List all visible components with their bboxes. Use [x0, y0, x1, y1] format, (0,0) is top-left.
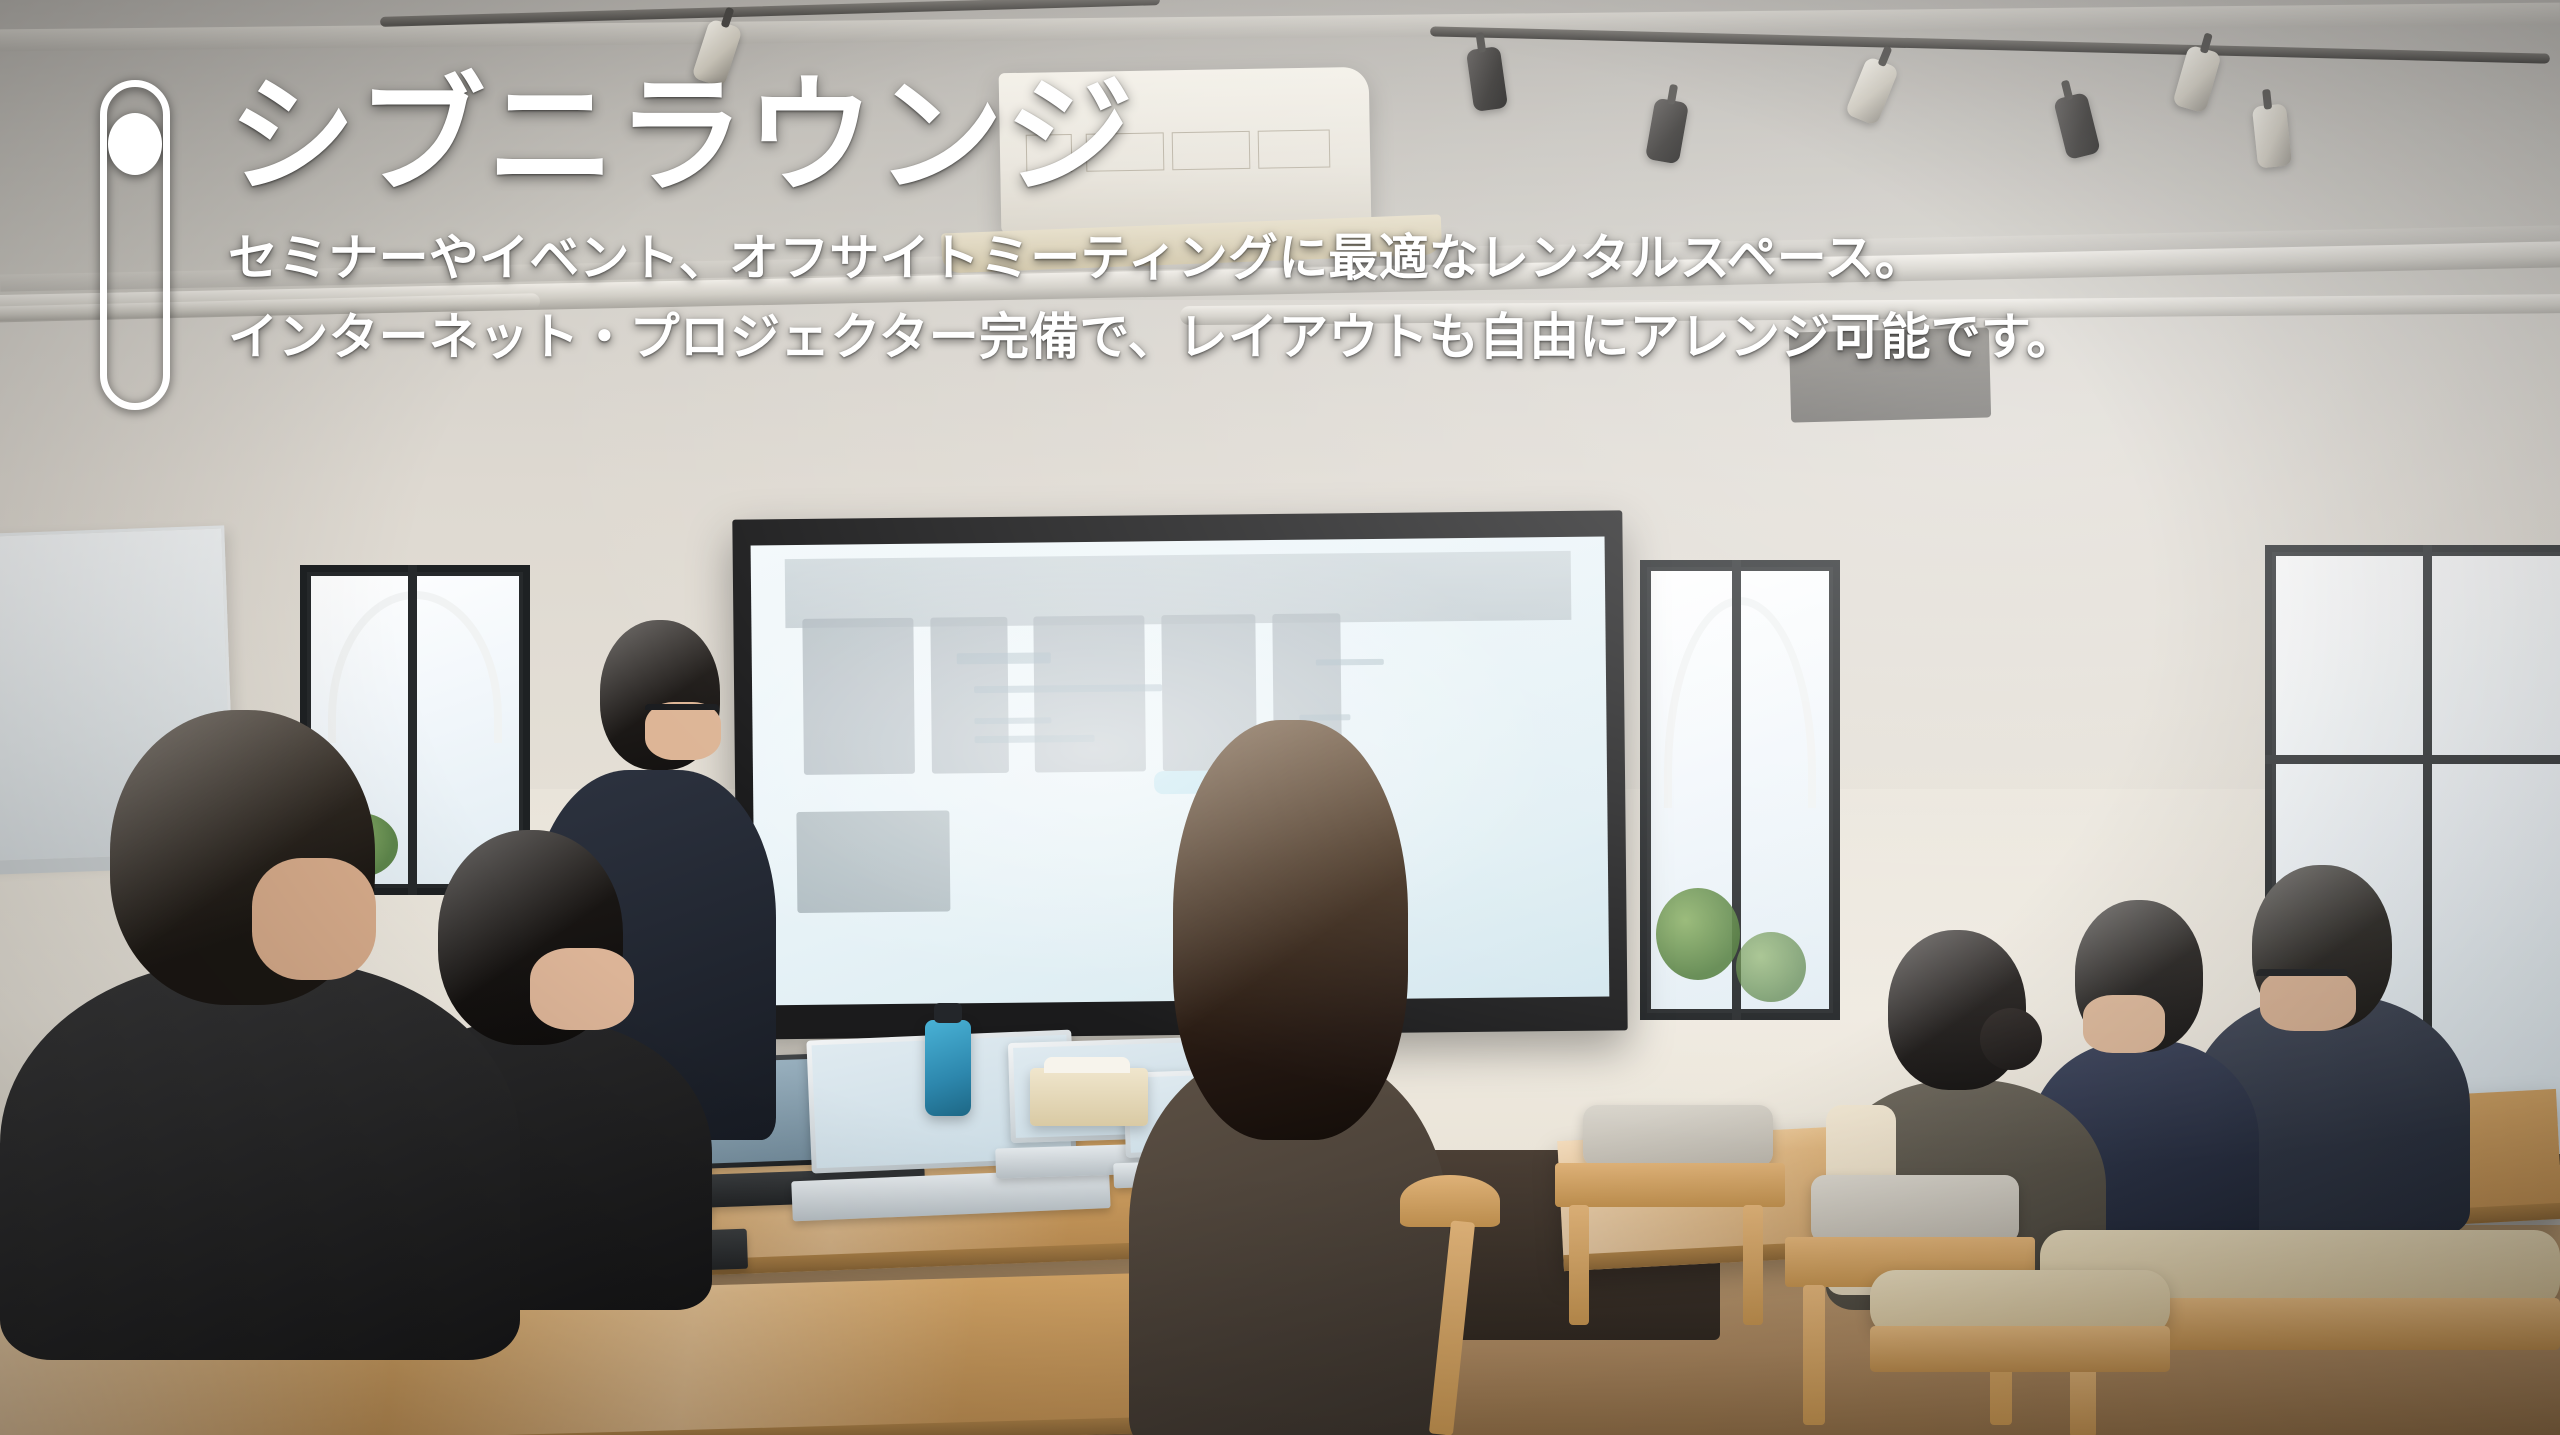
- subtitle-group: セミナーやイベント、オフサイトミーティングに最適なレンタルスペース。 インターネ…: [228, 219, 2076, 377]
- page-title: シブニラウンジ: [228, 72, 2076, 203]
- title-overlay: シブニラウンジ セミナーやイベント、オフサイトミーティングに最適なレンタルスペー…: [0, 0, 2560, 1435]
- location-pin-icon: [100, 80, 170, 410]
- video-frame: シブニラウンジ セミナーやイベント、オフサイトミーティングに最適なレンタルスペー…: [0, 0, 2560, 1435]
- overlay-text-block: シブニラウンジ セミナーやイベント、オフサイトミーティングに最適なレンタルスペー…: [228, 72, 2076, 377]
- subtitle-line-1: セミナーやイベント、オフサイトミーティングに最適なレンタルスペース。: [228, 219, 2076, 298]
- subtitle-line-2: インターネット・プロジェクター完備で、レイアウトも自由にアレンジ可能です。: [228, 298, 2076, 377]
